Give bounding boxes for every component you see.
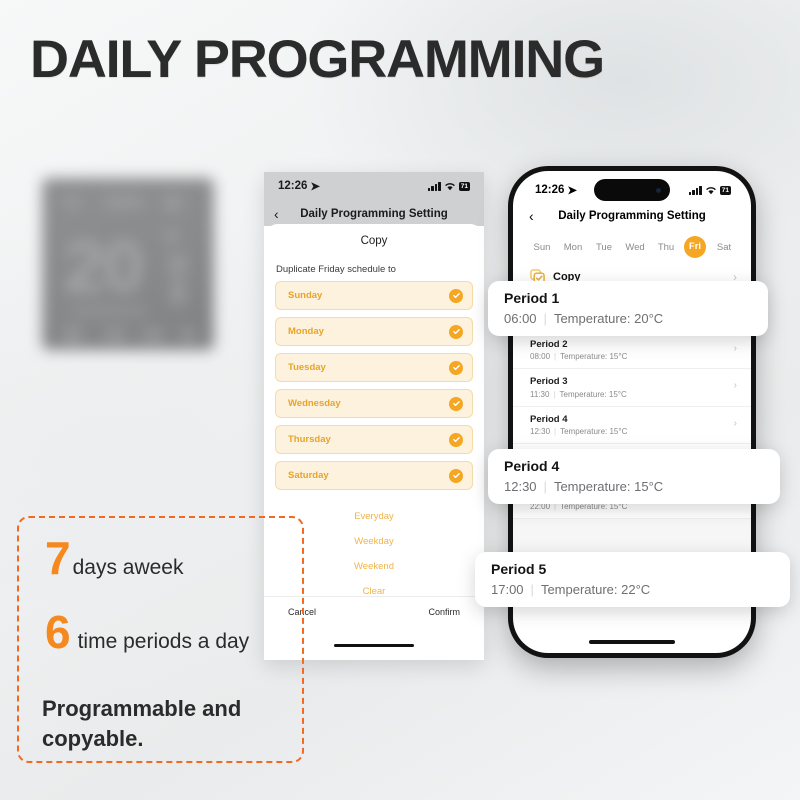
- detail-separator: |: [553, 390, 555, 399]
- day-tab-wed[interactable]: Wed: [622, 242, 648, 253]
- period-temperature: Temperature: 15°C: [560, 390, 627, 399]
- detail-separator: |: [554, 427, 556, 436]
- right-nav-bar: ‹ Daily Programming Setting: [513, 203, 751, 229]
- feature-number: 7: [45, 538, 71, 579]
- thermostat-bottom-icon-4: [180, 328, 196, 342]
- day-tab-sun[interactable]: Sun: [529, 242, 555, 253]
- day-tab-tue[interactable]: Tue: [591, 242, 617, 253]
- thermostat-bottom-icon-3: [142, 328, 164, 342]
- day-label: Sunday: [288, 290, 322, 301]
- day-row-sunday[interactable]: Sunday: [275, 281, 473, 310]
- period-list: Period 1 06:00|Temperature: 20°C › Perio…: [513, 293, 751, 583]
- chevron-left-icon[interactable]: ‹: [274, 206, 279, 222]
- chevron-right-icon: ›: [734, 343, 737, 354]
- wifi-icon: [444, 182, 456, 191]
- thermostat-degree-icon: [165, 230, 178, 243]
- day-tab-bar: Sun Mon Tue Wed Thu Fri Sat: [513, 229, 751, 264]
- detail-separator: |: [544, 311, 547, 326]
- callout-temperature: Temperature: 15°C: [554, 479, 663, 494]
- callout-time: 06:00: [504, 311, 537, 326]
- feature-number: 6: [45, 612, 71, 653]
- location-arrow-icon: ➤: [567, 183, 577, 197]
- period-name: Period 2: [530, 339, 737, 350]
- thermostat-subtext-bar: [72, 306, 146, 316]
- callout-temperature: Temperature: 20°C: [554, 311, 663, 326]
- period-detail: 08:00|Temperature: 15°C: [530, 352, 737, 361]
- callout-time: 17:00: [491, 582, 524, 597]
- copy-sheet-title: Copy: [264, 224, 484, 247]
- callout-period-name: Period 1: [504, 290, 768, 306]
- signal-bars-icon: [428, 182, 441, 191]
- thermostat-mode-icon: [64, 196, 81, 209]
- day-row-saturday[interactable]: Saturday: [275, 461, 473, 490]
- battery-level-label: 71: [459, 182, 470, 191]
- callout-period-name: Period 4: [504, 458, 780, 474]
- detail-separator: |: [554, 352, 556, 361]
- period-temperature: Temperature: 15°C: [560, 352, 627, 361]
- day-row-tuesday[interactable]: Tuesday: [275, 353, 473, 382]
- callout-period-5: Period 5 17:00|Temperature: 22°C: [475, 552, 790, 607]
- feature-days-a-week: 7 days aweek: [45, 538, 184, 580]
- callout-temperature: Temperature: 22°C: [541, 582, 650, 597]
- day-row-wednesday[interactable]: Wednesday: [275, 389, 473, 418]
- dynamic-island: [594, 179, 670, 201]
- check-circle-icon[interactable]: [449, 325, 463, 339]
- left-nav-title: Daily Programming Setting: [264, 208, 484, 220]
- callout-time: 12:30: [504, 479, 537, 494]
- page-title: DAILY PROGRAMMING: [30, 29, 604, 90]
- day-label: Wednesday: [288, 398, 341, 409]
- period-detail: 11:30|Temperature: 15°C: [530, 390, 737, 399]
- period-name: Period 4: [530, 414, 737, 425]
- day-label: Tuesday: [288, 362, 326, 373]
- right-nav-title: Daily Programming Setting: [513, 210, 751, 222]
- signal-bars-icon: [689, 186, 702, 195]
- day-list: Sunday Monday Tuesday Wednesday Thursday…: [264, 281, 484, 490]
- thermostat-down-icon: [170, 278, 186, 306]
- thermostat-bottom-icon-1: [64, 326, 82, 344]
- thermostat-face: 20: [42, 178, 214, 350]
- callout-period-detail: 17:00|Temperature: 22°C: [491, 582, 790, 597]
- home-indicator: [334, 644, 414, 648]
- feature-text: days aweek: [73, 556, 184, 580]
- battery-icon: 71: [720, 186, 731, 195]
- thermostat-up-icon: [168, 254, 188, 274]
- status-time: 12:26: [278, 180, 307, 192]
- callout-period-detail: 06:00|Temperature: 20°C: [504, 311, 768, 326]
- check-circle-icon[interactable]: [449, 289, 463, 303]
- period-row-2[interactable]: Period 2 08:00|Temperature: 15°C ›: [513, 332, 751, 370]
- day-tab-mon[interactable]: Mon: [560, 242, 586, 253]
- thermostat-power-icon: [164, 194, 182, 212]
- day-label: Monday: [288, 326, 324, 337]
- period-time: 11:30: [530, 390, 549, 399]
- callout-period-4: Period 4 12:30|Temperature: 15°C: [488, 449, 780, 504]
- thermostat-temperature-value: 20: [64, 224, 142, 309]
- front-camera-icon: [656, 188, 661, 193]
- thermostat-bottom-icon-2: [104, 328, 126, 342]
- battery-level-label: 71: [720, 186, 731, 195]
- check-circle-icon[interactable]: [449, 361, 463, 375]
- detail-separator: |: [544, 479, 547, 494]
- period-temperature: Temperature: 15°C: [560, 427, 627, 436]
- day-row-monday[interactable]: Monday: [275, 317, 473, 346]
- period-row-3[interactable]: Period 3 11:30|Temperature: 15°C ›: [513, 369, 751, 407]
- feature-text: time periods a day: [78, 630, 250, 654]
- period-row-4[interactable]: Period 4 12:30|Temperature: 15°C ›: [513, 407, 751, 445]
- battery-icon: 71: [459, 182, 470, 191]
- check-circle-icon[interactable]: [449, 433, 463, 447]
- left-nav-bar: ‹ Daily Programming Setting: [264, 202, 484, 226]
- home-indicator: [589, 640, 675, 644]
- callout-period-1: Period 1 06:00|Temperature: 20°C: [488, 281, 768, 336]
- check-circle-icon[interactable]: [449, 469, 463, 483]
- period-detail: 12:30|Temperature: 15°C: [530, 427, 737, 436]
- chevron-right-icon: ›: [734, 380, 737, 391]
- period-name: Period 3: [530, 376, 737, 387]
- status-time: 12:26: [535, 184, 564, 196]
- copy-sheet-subtitle: Duplicate Friday schedule to: [264, 247, 484, 281]
- thermostat-device-photo: 20: [42, 178, 214, 350]
- location-arrow-icon: ➤: [310, 179, 320, 193]
- day-tab-fri[interactable]: Fri: [684, 236, 706, 258]
- confirm-button[interactable]: Confirm: [428, 607, 460, 617]
- callout-period-name: Period 5: [491, 561, 790, 577]
- check-circle-icon[interactable]: [449, 397, 463, 411]
- period-time: 08:00: [530, 352, 550, 361]
- left-status-bar: 12:26 ➤ 71: [264, 172, 484, 202]
- day-tab-sat[interactable]: Sat: [711, 242, 737, 253]
- feature-time-periods: 6 time periods a day: [45, 612, 249, 654]
- feature-paragraph: Programmable and copyable.: [42, 694, 292, 753]
- thermostat-clock-icon: [104, 195, 144, 209]
- chevron-right-icon: ›: [734, 418, 737, 429]
- day-tab-thu[interactable]: Thu: [653, 242, 679, 253]
- wifi-icon: [705, 186, 717, 195]
- detail-separator: |: [531, 582, 534, 597]
- day-row-thursday[interactable]: Thursday: [275, 425, 473, 454]
- chevron-left-icon[interactable]: ‹: [529, 208, 534, 224]
- day-label: Saturday: [288, 470, 329, 481]
- callout-period-detail: 12:30|Temperature: 15°C: [504, 479, 780, 494]
- period-time: 12:30: [530, 427, 550, 436]
- day-label: Thursday: [288, 434, 331, 445]
